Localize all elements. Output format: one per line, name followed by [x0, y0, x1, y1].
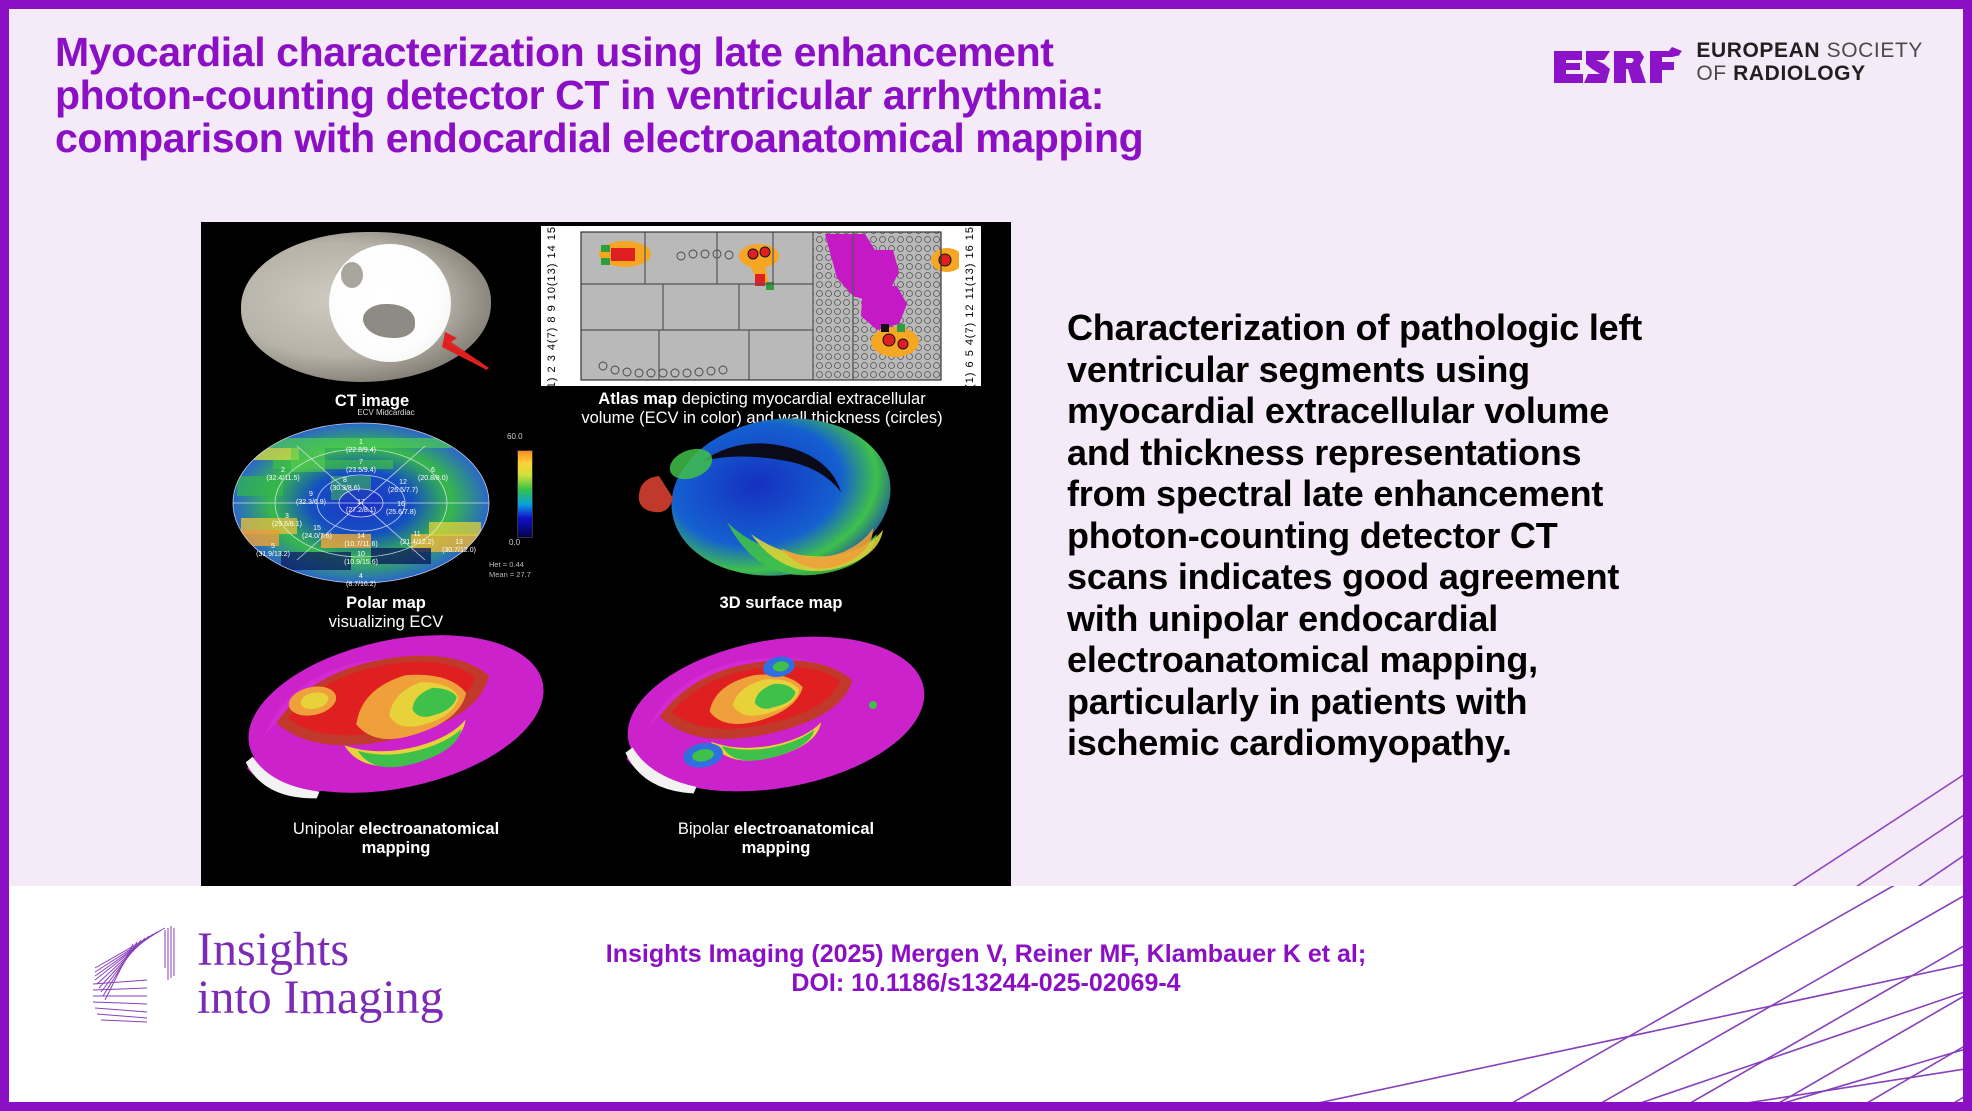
- atlas-axis-right: (13) 16 15 (7) 12 11 (1) 6 5 4: [958, 226, 981, 386]
- title-line-1: Myocardial characterization using late e…: [55, 31, 1225, 74]
- esr-logo: EUROPEAN SOCIETY OF RADIOLOGY: [1552, 39, 1923, 85]
- poster-root: Myocardial characterization using late e…: [0, 0, 1972, 1111]
- svg-text:11: 11: [413, 531, 420, 538]
- atlas-axis-right-0: (13) 16 15: [964, 226, 976, 286]
- key-message-line-9: particularly in patients with: [1067, 681, 1867, 723]
- esr-line2-bold: RADIOLOGY: [1733, 62, 1866, 85]
- svg-text:(20.8/8.0): (20.8/8.0): [418, 475, 448, 482]
- caption-surface-3d: 3D surface map: [631, 594, 931, 613]
- svg-text:17: 17: [357, 499, 365, 506]
- svg-text:(10.9/15.6): (10.9/15.6): [344, 559, 378, 566]
- ct-low-attenuation-focus: [341, 262, 363, 288]
- caption-eam-bi-line2: mapping: [742, 839, 811, 857]
- esr-logo-text: EUROPEAN SOCIETY OF RADIOLOGY: [1696, 39, 1923, 85]
- title-line-2: photon-counting detector CT in ventricul…: [55, 74, 1225, 117]
- ct-left-ventricle-cavity: [329, 244, 451, 362]
- svg-text:16: 16: [397, 501, 405, 508]
- key-message-line-1: ventricular segments using: [1067, 349, 1867, 391]
- svg-text:(8.7/16.2): (8.7/16.2): [346, 581, 376, 588]
- polar-map-colorbar: [517, 450, 533, 538]
- svg-text:8: 8: [343, 477, 347, 484]
- atlas-axis-left-1: (7) 8 9 10: [546, 286, 558, 343]
- svg-text:(29.6/8.1): (29.6/8.1): [272, 521, 302, 528]
- svg-text:(25.6/7.8): (25.6/7.8): [386, 509, 416, 516]
- svg-text:(22.8/9.4): (22.8/9.4): [346, 447, 376, 454]
- svg-text:1: 1: [359, 439, 363, 446]
- key-message-line-2: myocardial extracellular volume: [1067, 390, 1867, 432]
- polar-map-stats: Het = 0.44 Mean = 27.7: [489, 560, 531, 580]
- esr-line2-light: OF: [1696, 62, 1726, 85]
- svg-text:(30.7/12.0): (30.7/12.0): [442, 547, 476, 554]
- colorbar-max-label: 60.0: [507, 432, 523, 441]
- polar-map-bullseye: 1(22.8/9.4) 2(32.4/11.5) 3(29.6/8.1) 4(8…: [221, 418, 511, 588]
- polar-map: ECV Midcardiac: [221, 410, 551, 595]
- citation: Insights Imaging (2025) Mergen V, Reiner…: [9, 940, 1963, 998]
- atlas-map: (13) 14 15 (7) 8 9 10 (1) 2 3 4 (13) 16 …: [541, 226, 981, 386]
- page-title: Myocardial characterization using late e…: [55, 31, 1225, 160]
- atlas-map-canvas: [563, 226, 959, 386]
- polar-mean-value: Mean = 27.7: [489, 570, 531, 580]
- svg-text:(32.3/6.9): (32.3/6.9): [296, 499, 326, 506]
- svg-text:2: 2: [281, 467, 285, 474]
- key-message-line-7: with unipolar endocardial: [1067, 598, 1867, 640]
- key-message-line-8: electroanatomical mapping,: [1067, 639, 1867, 681]
- atlas-axis-left: (13) 14 15 (7) 8 9 10 (1) 2 3 4: [541, 226, 564, 386]
- esr-line1-bold: EUROPEAN: [1696, 39, 1820, 62]
- key-message-line-5: photon-counting detector CT: [1067, 515, 1867, 557]
- caption-eam-unipolar: Unipolar electroanatomical mapping: [221, 820, 571, 858]
- svg-text:9: 9: [309, 491, 313, 498]
- svg-text:(27.2/8.1): (27.2/8.1): [346, 507, 376, 514]
- surface-3d-map: [631, 402, 931, 592]
- red-arrow-icon: [435, 330, 491, 372]
- caption-eam-uni-bold: electroanatomical: [359, 820, 499, 838]
- caption-eam-bipolar: Bipolar electroanatomical mapping: [601, 820, 951, 858]
- svg-text:(10.7/11.6): (10.7/11.6): [344, 541, 377, 548]
- key-message-line-4: from spectral late enhancement: [1067, 473, 1867, 515]
- caption-polar-bold: Polar map: [346, 594, 426, 612]
- svg-text:(24.0/7.6): (24.0/7.6): [302, 533, 332, 540]
- upper-panel: Myocardial characterization using late e…: [9, 9, 1963, 904]
- footer-bar: Insights into Imaging Insights Imaging (…: [9, 886, 1963, 1102]
- svg-text:14: 14: [357, 533, 365, 540]
- key-message-line-10: ischemic cardiomyopathy.: [1067, 722, 1867, 764]
- key-message-text: Characterization of pathologic left vent…: [1067, 307, 1867, 764]
- eam-bipolar-map: [611, 614, 941, 814]
- svg-text:(21.4/12.2): (21.4/12.2): [400, 539, 434, 546]
- atlas-axis-left-2: (1) 2 3 4: [546, 343, 558, 386]
- eam-unipolar-map: [231, 614, 561, 814]
- caption-eam-uni-line2: mapping: [362, 839, 431, 857]
- caption-eam-bi-pre: Bipolar: [678, 820, 734, 838]
- svg-text:(26.5/7.7): (26.5/7.7): [388, 487, 418, 494]
- atlas-axis-right-1: (7) 12 11: [964, 286, 976, 338]
- svg-text:12: 12: [399, 479, 407, 486]
- caption-eam-uni-pre: Unipolar: [293, 820, 359, 838]
- caption-surface-bold: 3D surface map: [720, 594, 843, 612]
- title-line-3: comparison with endocardial electroanato…: [55, 117, 1225, 160]
- svg-text:(23.5/9.4): (23.5/9.4): [346, 467, 376, 474]
- svg-text:(31.9/13.2): (31.9/13.2): [256, 551, 290, 558]
- svg-text:10: 10: [357, 551, 365, 558]
- svg-text:(30.3/8.6): (30.3/8.6): [330, 485, 360, 492]
- esr-line1-light: SOCIETY: [1827, 39, 1923, 62]
- figure-panel: (13) 14 15 (7) 8 9 10 (1) 2 3 4 (13) 16 …: [201, 222, 1011, 892]
- svg-text:13: 13: [455, 539, 463, 546]
- atlas-axis-right-2: (1) 6 5 4: [964, 338, 976, 386]
- key-message-line-6: scans indicates good agreement: [1067, 556, 1867, 598]
- polar-map-title: ECV Midcardiac: [221, 408, 551, 417]
- polar-het-value: Het = 0.44: [489, 560, 531, 570]
- svg-text:5: 5: [271, 543, 275, 550]
- key-message-line-3: and thickness representations: [1067, 432, 1867, 474]
- svg-text:6: 6: [431, 467, 435, 474]
- citation-line-2: DOI: 10.1186/s13244-025-02069-4: [9, 969, 1963, 998]
- svg-text:(32.4/11.5): (32.4/11.5): [266, 475, 299, 482]
- esr-wordmark-icon: [1552, 39, 1684, 85]
- svg-text:4: 4: [359, 573, 363, 580]
- citation-line-1: Insights Imaging (2025) Mergen V, Reiner…: [9, 940, 1963, 969]
- ct-image: [213, 226, 531, 386]
- caption-eam-bi-bold: electroanatomical: [734, 820, 874, 838]
- key-message-line-0: Characterization of pathologic left: [1067, 307, 1867, 349]
- svg-text:15: 15: [313, 525, 321, 532]
- svg-text:7: 7: [359, 459, 363, 466]
- atlas-axis-left-0: (13) 14 15: [546, 226, 558, 286]
- svg-text:3: 3: [285, 513, 289, 520]
- colorbar-min-label: 0.0: [509, 538, 520, 547]
